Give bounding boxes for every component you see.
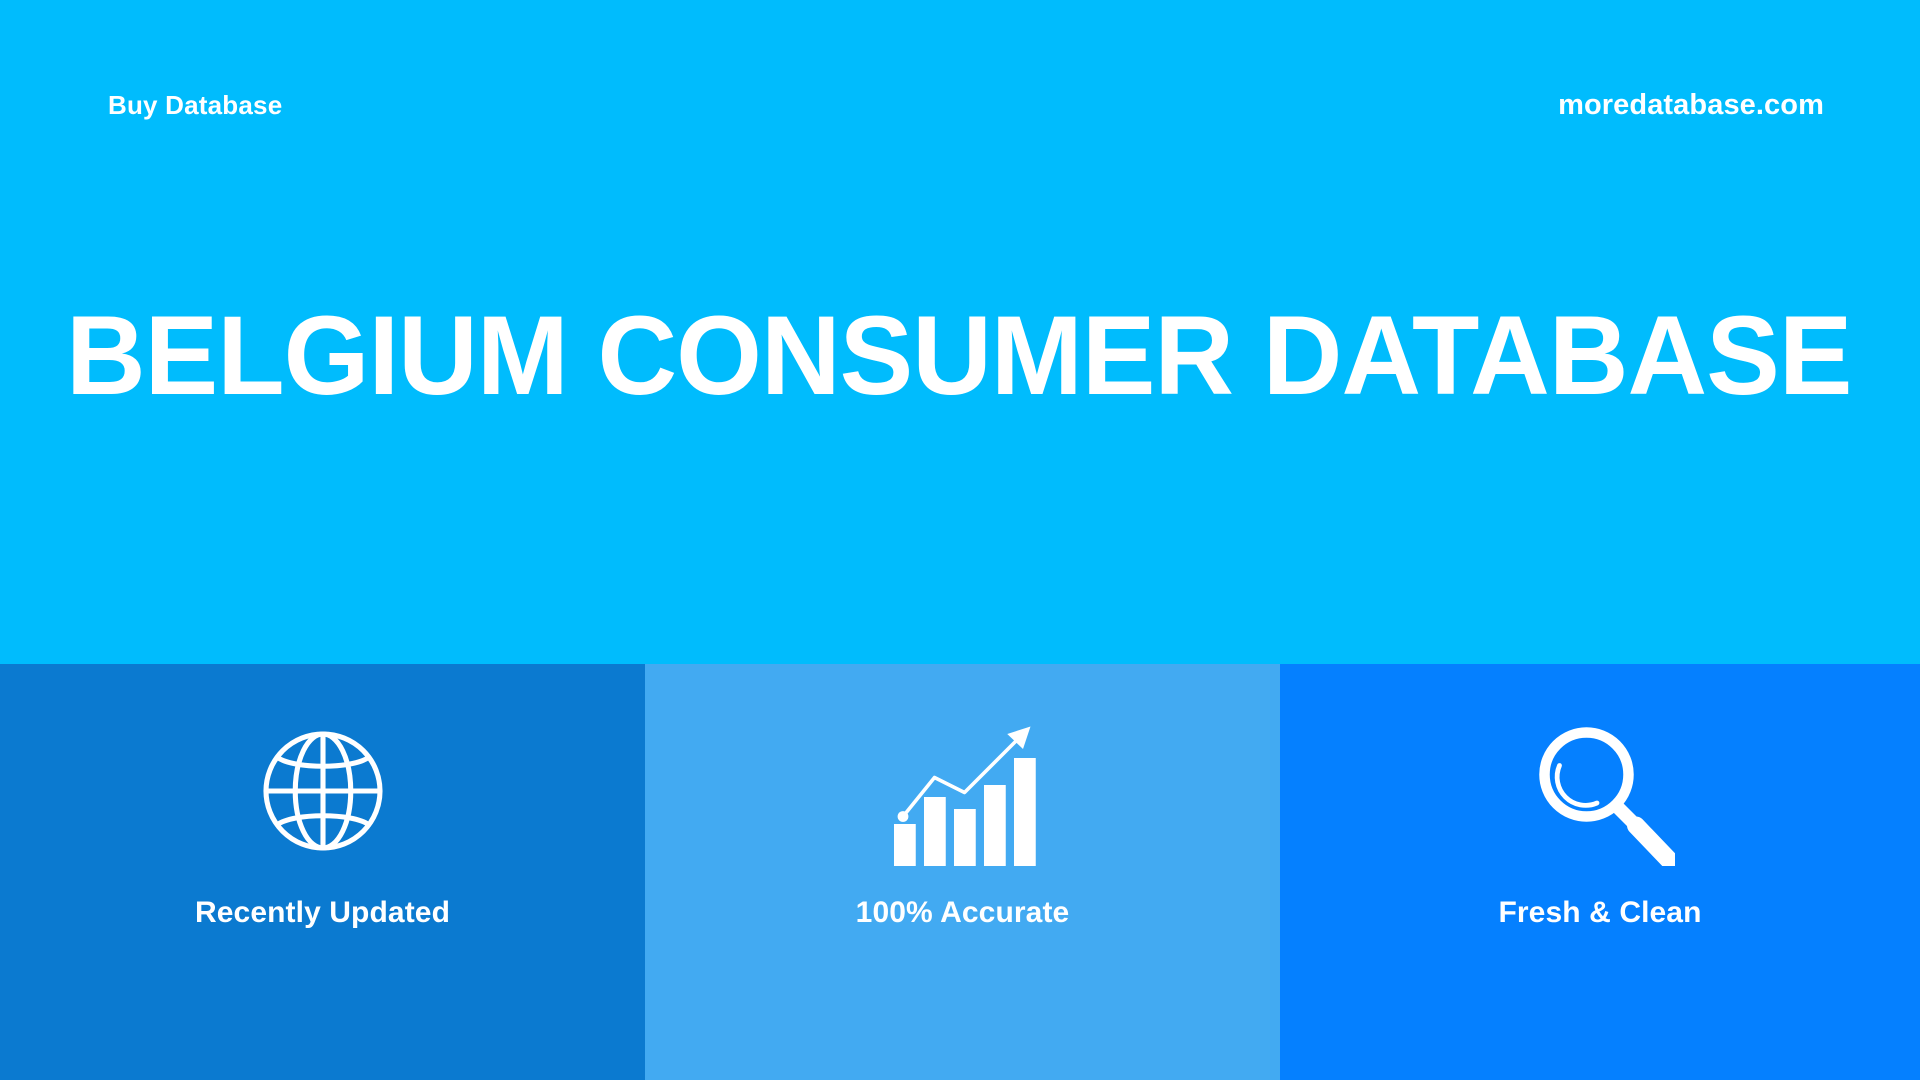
feature-card-fresh-clean[interactable]: Fresh & Clean bbox=[1280, 664, 1920, 1080]
hero-section: Buy Database moredatabase.com BELGIUM CO… bbox=[0, 0, 1920, 664]
page-title: BELGIUM CONSUMER DATABASE bbox=[66, 300, 1833, 412]
globe-icon bbox=[248, 716, 398, 866]
feature-card-100-accurate[interactable]: 100% Accurate bbox=[645, 664, 1280, 1080]
feature-label-100-accurate: 100% Accurate bbox=[856, 898, 1070, 928]
growth-bar-chart-icon bbox=[888, 716, 1038, 866]
feature-label-recently-updated: Recently Updated bbox=[195, 898, 450, 928]
feature-card-recently-updated[interactable]: Recently Updated bbox=[0, 664, 645, 1080]
brand-row: Buy Database moredatabase.com bbox=[0, 0, 1920, 210]
hero-title-wrap: BELGIUM CONSUMER DATABASE bbox=[0, 300, 1920, 412]
website-link[interactable]: moredatabase.com bbox=[1558, 91, 1824, 120]
feature-label-fresh-clean: Fresh & Clean bbox=[1498, 898, 1701, 928]
brand-label[interactable]: Buy Database bbox=[108, 92, 282, 118]
feature-strip: Recently Updated bbox=[0, 664, 1920, 1080]
promo-banner: Buy Database moredatabase.com BELGIUM CO… bbox=[0, 0, 1920, 1080]
magnifying-glass-icon bbox=[1525, 716, 1675, 866]
